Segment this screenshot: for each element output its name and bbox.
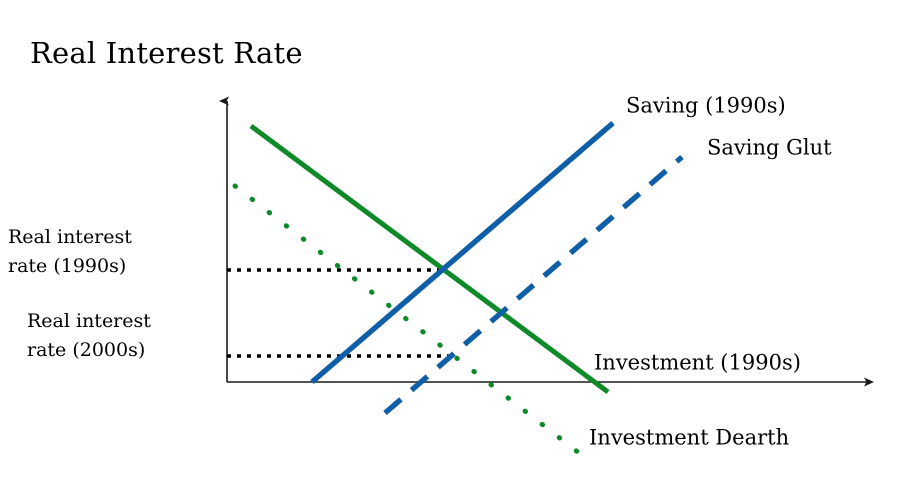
equilibrium-guides <box>227 270 455 356</box>
curve-saving-glut[interactable] <box>385 157 682 413</box>
label-saving-1990s: Saving (1990s) <box>626 94 786 118</box>
label-saving-glut: Saving Glut <box>707 136 832 160</box>
chart-canvas: Real Interest Rate Saving (1990s) Saving… <box>0 0 912 484</box>
interest-rate-diagram: Real Interest Rate Saving (1990s) Saving… <box>0 0 912 484</box>
label-real-rate-2000s: Real interest rate (2000s) <box>27 310 151 361</box>
label-real-rate-1990s-line1: Real interest <box>8 226 132 248</box>
page-title: Real Interest Rate <box>30 36 303 70</box>
curve-investment-1990s[interactable] <box>251 126 608 392</box>
label-investment-1990s: Investment (1990s) <box>594 351 801 375</box>
label-real-rate-1990s-line2: rate (1990s) <box>8 255 126 277</box>
label-real-rate-1990s: Real interest rate (1990s) <box>8 226 132 277</box>
label-real-rate-2000s-line2: rate (2000s) <box>27 339 145 361</box>
label-real-rate-2000s-line1: Real interest <box>27 310 151 332</box>
curve-saving-1990s[interactable] <box>312 123 613 382</box>
curve-investment-dearth[interactable] <box>235 186 588 460</box>
label-investment-dearth: Investment Dearth <box>589 426 789 450</box>
